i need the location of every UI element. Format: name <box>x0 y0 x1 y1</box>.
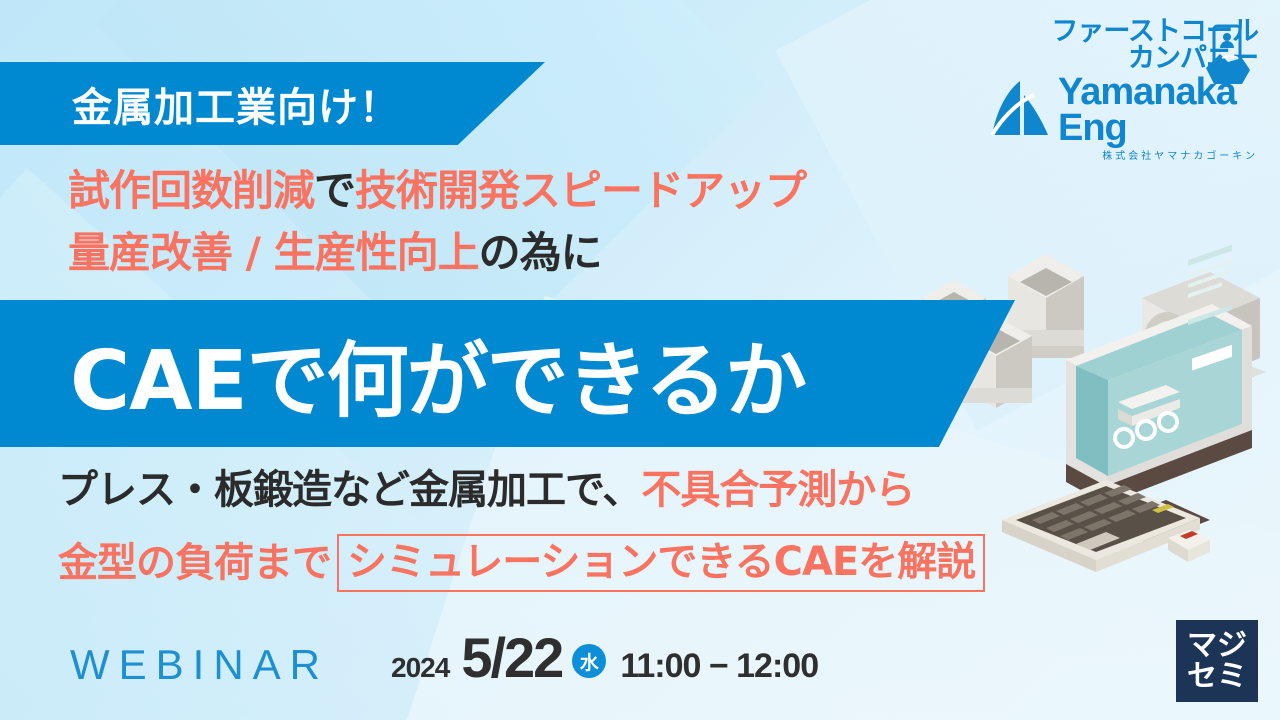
webinar-label: WEBINAR <box>70 644 329 686</box>
day-of-week-badge: 水 <box>572 644 606 678</box>
main-title-latin: CAE <box>70 334 247 429</box>
lead-line-2-highlight: 量産改善 / 生産性向上 <box>68 228 479 277</box>
lead-line-1-plain: で <box>314 166 355 215</box>
yamanaka-sail-mark-icon <box>990 81 1052 142</box>
main-title: CAEで何ができるか <box>0 314 805 433</box>
keyboard-icon <box>1002 480 1200 572</box>
sub-line-2-boxed: シミュレーションできるCAEを解説 <box>337 534 985 592</box>
webinar-year: 2024 <box>391 652 449 684</box>
main-title-rest: で何ができるか <box>247 334 805 429</box>
audience-ribbon-label: 金属加工業向け！ <box>0 75 400 133</box>
webinar-footer: WEBINAR 2024 5/22 水 11:00 − 12:00 <box>70 630 818 686</box>
audience-ribbon: 金属加工業向け！ <box>0 62 545 145</box>
yamanaka-logo: ファーストコール カンパニー Yamanaka Eng 株式会社ヤマナカゴーキン <box>990 18 1258 162</box>
main-title-band: CAEで何ができるか <box>0 300 1015 447</box>
webinar-poster: 金属加工業向け！ 試作回数削減で技術開発スピードアップ 量産改善 / 生産性向上… <box>0 0 1280 720</box>
hand-phone-icon <box>1198 24 1256 93</box>
sub-line-1-highlight: 不具合予測から <box>641 467 914 513</box>
sub-line-1: プレス・板鍛造など金属加工で、不具合予測から <box>58 470 914 510</box>
lead-line-1: 試作回数削減で技術開発スピードアップ <box>68 170 1028 212</box>
lead-line-2-plain: の為に <box>479 228 602 277</box>
majisemi-line-1: マジ <box>1187 630 1247 662</box>
lead-line-1-highlight-b: 技術開発スピードアップ <box>355 166 806 215</box>
yamanaka-company-name: 株式会社ヤマナカゴーキン <box>990 147 1258 162</box>
sub-line-2: 金型の負荷まで シミュレーションできるCAEを解説 <box>58 534 985 592</box>
webinar-time: 11:00 − 12:00 <box>620 647 818 686</box>
lead-line-2: 量産改善 / 生産性向上の為に <box>68 232 1028 274</box>
webinar-date: 5/22 <box>461 630 562 686</box>
sub-line-1-plain: プレス・板鍛造など金属加工で、 <box>58 467 641 513</box>
sub-line-2-highlight: 金型の負荷まで <box>58 543 331 583</box>
lead-line-1-highlight-a: 試作回数削減 <box>68 166 314 215</box>
webinar-date-group: 2024 5/22 水 11:00 − 12:00 <box>391 630 818 686</box>
majisemi-logo: マジ セミ <box>1176 620 1258 702</box>
majisemi-line-2: セミ <box>1187 661 1247 693</box>
